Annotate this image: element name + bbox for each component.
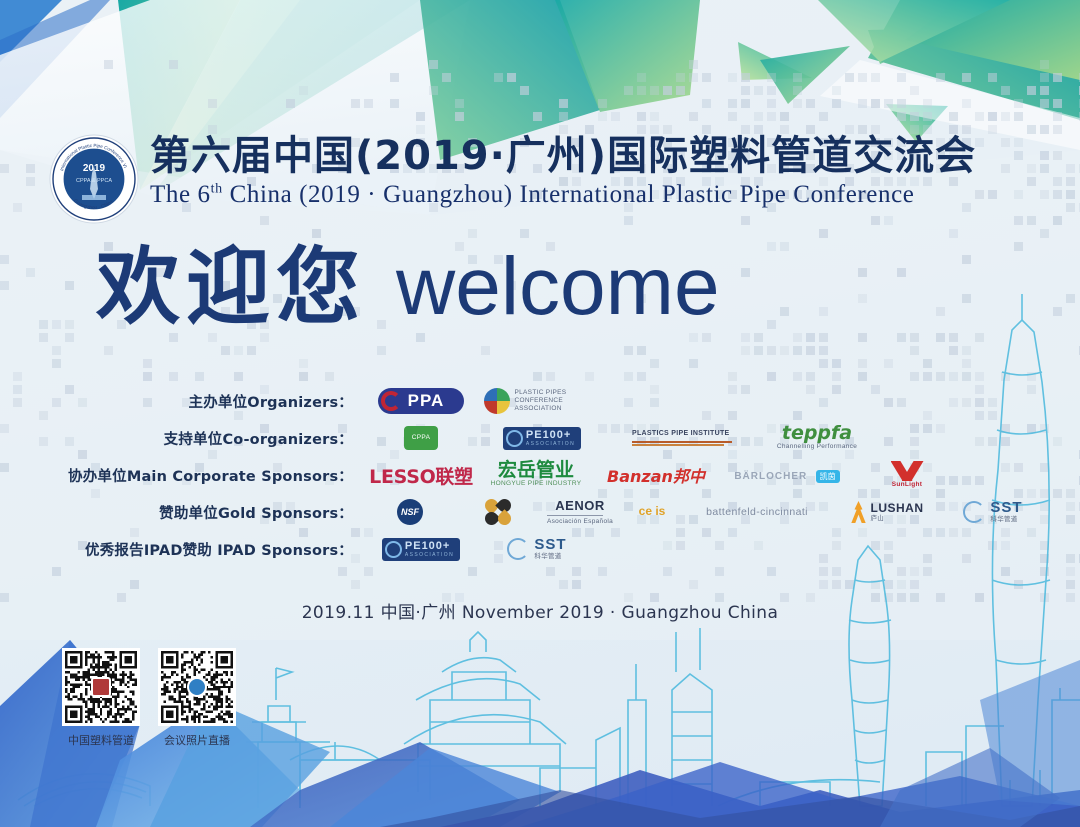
aenor-text: AENOR bbox=[547, 498, 613, 513]
banzan-logo: Banzan邦中 bbox=[595, 463, 717, 487]
qr-code-item[interactable]: 会议照片直播 bbox=[158, 648, 236, 748]
emblem-year: 2019 bbox=[83, 163, 106, 174]
sponsor-row-label: 支持单位Co-organizers： bbox=[60, 428, 365, 449]
pe100plus-text: PE100+ bbox=[526, 430, 575, 441]
qr-code-image[interactable] bbox=[158, 648, 236, 726]
conference-header: 2019 CPPA & PPCA International Plastic P… bbox=[48, 133, 1038, 228]
title-en-post: China (2019 · Guangzhou) International P… bbox=[223, 181, 915, 208]
conference-title-chinese: 第六届中国(2019·广州)国际塑料管道交流会 bbox=[150, 135, 976, 177]
sponsor-row-label: 赞助单位Gold Sponsors： bbox=[60, 502, 365, 523]
sponsor-row: 主办单位Organizers： PPA PLASTIC PIPES CONFER… bbox=[60, 383, 1020, 419]
event-dateline: 2019.11 中国·广州 November 2019 · Guangzhou … bbox=[0, 598, 1080, 623]
sst-text: SST bbox=[534, 536, 566, 553]
pe100plus-icon bbox=[385, 541, 402, 558]
title-en-pre: The 6 bbox=[150, 181, 211, 208]
welcome-text-chinese: 欢迎您 bbox=[96, 245, 366, 329]
plastics-pipe-institute-logo: PLASTICS PIPE INSTITUTE bbox=[607, 430, 757, 446]
aenor-logo: AENOR Asociación Española bbox=[541, 498, 619, 526]
cppa-logo-text: PPA bbox=[408, 391, 445, 411]
sponsor-row-label: 协办单位Main Corporate Sponsors： bbox=[60, 465, 365, 486]
pe100plus-sub: ASSOCIATION bbox=[526, 441, 575, 447]
baerlocher-sub: 凯茵 bbox=[816, 470, 840, 483]
sst-logo: SST 科华管道 bbox=[945, 499, 1041, 524]
baerlocher-text: BÄRLOCHER bbox=[734, 471, 807, 482]
ppca-logo-text: PLASTIC PIPES CONFERENCE ASSOCIATION bbox=[515, 389, 601, 413]
ppca-icon bbox=[484, 388, 510, 414]
pe100plus-logo: PE100+ ASSOCIATION bbox=[477, 427, 607, 450]
teppfa-sub: Channelling Performance bbox=[777, 443, 857, 451]
green-association-icon: CPPA bbox=[404, 426, 438, 450]
qr-code-section: 中国塑料管道 会议照片直播 bbox=[62, 648, 236, 748]
ppi-text: PLASTICS PIPE INSTITUTE bbox=[632, 430, 732, 439]
cppa-logo: PPA bbox=[365, 388, 477, 414]
battenfeld-text: battenfeld-cincinnati bbox=[706, 506, 808, 518]
sst-icon bbox=[963, 501, 985, 523]
battenfeld-cincinnati-logo: battenfeld-cincinnati bbox=[685, 506, 829, 518]
sunlight-text: SunLight bbox=[891, 481, 924, 489]
conference-title-english: The 6th China (2019 · Guangzhou) Interna… bbox=[150, 181, 976, 209]
nsf-text: NSF bbox=[397, 499, 423, 525]
lushan-icon bbox=[851, 501, 867, 523]
welcome-heading: 欢迎您 welcome bbox=[96, 237, 996, 337]
lushan-text: LUSHAN bbox=[871, 501, 924, 515]
sponsor-row: 优秀报告IPAD赞助 IPAD Sponsors： PE100+ ASSOCIA… bbox=[60, 531, 1020, 567]
qr-center-badge bbox=[91, 677, 111, 697]
clover-logo bbox=[455, 499, 541, 525]
hongyue-sub: HONGYUE PIPE INDUSTRY bbox=[491, 480, 582, 488]
sponsor-row-label: 优秀报告IPAD赞助 IPAD Sponsors： bbox=[60, 539, 365, 560]
qr-code-caption: 会议照片直播 bbox=[158, 732, 236, 748]
lushan-sub: 庐山 bbox=[871, 515, 924, 523]
sponsor-row: 协办单位Main Corporate Sponsors： LESSO联塑 宏岳管… bbox=[60, 457, 1020, 493]
lesso-logo: LESSO联塑 bbox=[365, 462, 477, 489]
sponsor-row: 赞助单位Gold Sponsors： NSF AENOR bbox=[60, 494, 1020, 530]
lushan-logo: LUSHAN 庐山 bbox=[829, 501, 945, 523]
sponsor-row: 支持单位Co-organizers： CPPA PE100+ ASSOCIATI… bbox=[60, 420, 1020, 456]
hongyue-text: 宏岳管业 bbox=[491, 461, 582, 480]
sponsors-section: 主办单位Organizers： PPA PLASTIC PIPES CONFER… bbox=[60, 383, 1020, 568]
conference-banner: 2019 CPPA & PPCA International Plastic P… bbox=[0, 0, 1080, 827]
qr-code-caption: 中国塑料管道 bbox=[62, 732, 140, 748]
nsf-logo: NSF bbox=[365, 499, 455, 525]
qr-code-item[interactable]: 中国塑料管道 bbox=[62, 648, 140, 748]
pe100plus-text: PE100+ bbox=[405, 541, 454, 552]
hongyue-logo: 宏岳管业 HONGYUE PIPE INDUSTRY bbox=[477, 461, 595, 488]
sunlight-logo: SunLight bbox=[857, 461, 957, 489]
emblem-org: CPPA & PPCA bbox=[76, 178, 112, 184]
sponsor-row-label: 主办单位Organizers： bbox=[60, 391, 365, 412]
qr-code-image[interactable] bbox=[62, 648, 140, 726]
qr-center-badge bbox=[187, 677, 207, 697]
sst-sub: 科华管道 bbox=[990, 516, 1022, 524]
clover-icon bbox=[485, 499, 511, 525]
sst-icon bbox=[507, 538, 529, 560]
ppca-logo: PLASTIC PIPES CONFERENCE ASSOCIATION bbox=[477, 388, 607, 414]
teppfa-text: teppfa bbox=[777, 424, 857, 443]
banzan-text: Banzan邦中 bbox=[607, 463, 705, 487]
sst-text: SST bbox=[990, 499, 1022, 516]
teppfa-logo: teppfa Channelling Performance bbox=[757, 424, 877, 451]
conference-emblem-logo: 2019 CPPA & PPCA International Plastic P… bbox=[48, 133, 140, 225]
pe100plus-sub: ASSOCIATION bbox=[405, 552, 454, 558]
ceis-logo: ce is bbox=[619, 506, 685, 517]
sst-sub: 科华管道 bbox=[534, 553, 566, 561]
baerlocher-logo: BÄRLOCHER 凯茵 bbox=[717, 466, 857, 484]
green-association-logo: CPPA bbox=[365, 426, 477, 450]
sst-logo: SST 科华管道 bbox=[477, 536, 597, 561]
lesso-text: LESSO联塑 bbox=[369, 462, 473, 489]
pe100plus-logo: PE100+ ASSOCIATION bbox=[365, 538, 477, 561]
ceis-text: ce is bbox=[639, 506, 666, 517]
welcome-text-english: welcome bbox=[396, 246, 720, 328]
pe100plus-icon bbox=[506, 430, 523, 447]
green-association-text: CPPA bbox=[412, 434, 430, 442]
title-en-ordinal: th bbox=[211, 182, 223, 197]
